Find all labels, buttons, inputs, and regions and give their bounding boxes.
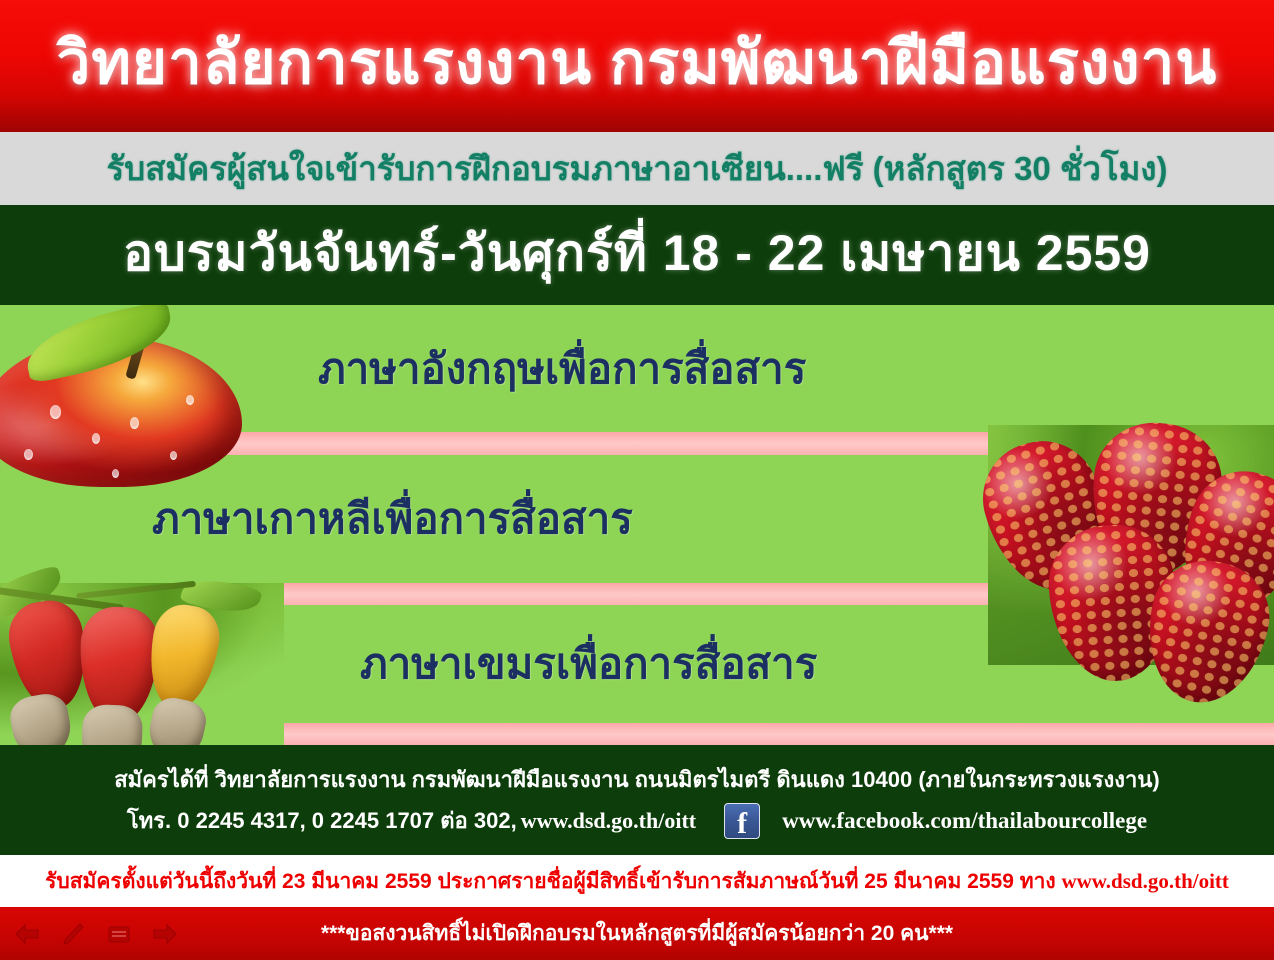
training-date-text: อบรมวันจันทร์-วันศุกร์ที่ 18 - 22 เมษายน… xyxy=(123,214,1151,297)
course-label: ภาษาอังกฤษเพื่อการสื่อสาร xyxy=(318,336,806,402)
poster-header: วิทยาลัยการแรงงาน กรมพัฒนาฝีมือแรงงาน xyxy=(0,0,1274,132)
contact-block: สมัครได้ที่ วิทยาลัยการแรงงาน กรมพัฒนาฝี… xyxy=(0,745,1274,855)
stripe-divider-pink xyxy=(0,723,1274,745)
bottom-bar: ***ขอสงวนสิทธิ์ไม่เปิดฝึกอบรมในหลักสูตรท… xyxy=(0,907,1274,960)
course-band-english: ภาษาอังกฤษเพื่อการสื่อสาร xyxy=(0,305,1274,432)
course-band-khmer: ภาษาเขมรเพื่อการสื่อสาร xyxy=(0,605,1274,723)
facebook-icon[interactable]: f xyxy=(724,803,760,839)
deadline-url[interactable]: www.dsd.go.th/oitt xyxy=(1061,869,1228,893)
website-link[interactable]: www.dsd.go.th/oitt xyxy=(521,808,696,834)
facebook-f-glyph: f xyxy=(737,809,747,839)
pencil-edit-icon[interactable] xyxy=(60,922,86,946)
course-list: ภาษาอังกฤษเพื่อการสื่อสาร ภาษาเกาหลีเพื่… xyxy=(0,305,1274,745)
course-band-korean: ภาษาเกาหลีเพื่อการสื่อสาร xyxy=(0,455,1274,583)
training-date-bar: อบรมวันจันทร์-วันศุกร์ที่ 18 - 22 เมษายน… xyxy=(0,205,1274,305)
poster-root: วิทยาลัยการแรงงาน กรมพัฒนาฝีมือแรงงาน รั… xyxy=(0,0,1274,960)
deadline-bar: รับสมัครตั้งแต่วันนี้ถึงวันที่ 23 มีนาคม… xyxy=(0,855,1274,907)
page-title: วิทยาลัยการแรงงาน กรมพัฒนาฝีมือแรงงาน xyxy=(57,33,1218,99)
contact-address: สมัครได้ที่ วิทยาลัยการแรงงาน กรมพัฒนาฝี… xyxy=(114,762,1160,797)
subtitle-text: รับสมัครผู้สนใจเข้ารับการฝึกอบรมภาษาอาเซ… xyxy=(107,142,1168,195)
stripe-divider-pink xyxy=(0,432,1274,455)
reservation-note: ***ขอสงวนสิทธิ์ไม่เปิดฝึกอบรมในหลักสูตรท… xyxy=(0,917,1274,950)
facebook-link[interactable]: www.facebook.com/thailabourcollege xyxy=(782,808,1147,834)
contact-phone: โทร. 0 2245 4317, 0 2245 1707 ต่อ 302, xyxy=(127,803,517,838)
forward-arrow-icon[interactable] xyxy=(152,922,178,946)
deadline-text: รับสมัครตั้งแต่วันนี้ถึงวันที่ 23 มีนาคม… xyxy=(45,865,1229,898)
contact-details-row: โทร. 0 2245 4317, 0 2245 1707 ต่อ 302, w… xyxy=(0,803,1274,839)
back-arrow-icon[interactable] xyxy=(14,922,40,946)
deadline-sentence: รับสมัครตั้งแต่วันนี้ถึงวันที่ 23 มีนาคม… xyxy=(45,870,1061,893)
stripe-divider-pink xyxy=(0,583,1274,606)
subtitle-bar: รับสมัครผู้สนใจเข้ารับการฝึกอบรมภาษาอาเซ… xyxy=(0,132,1274,205)
bottom-toolbar xyxy=(0,922,178,946)
course-label: ภาษาเกาหลีเพื่อการสื่อสาร xyxy=(152,486,633,552)
notes-icon[interactable] xyxy=(106,922,132,946)
course-label: ภาษาเขมรเพื่อการสื่อสาร xyxy=(360,631,817,697)
